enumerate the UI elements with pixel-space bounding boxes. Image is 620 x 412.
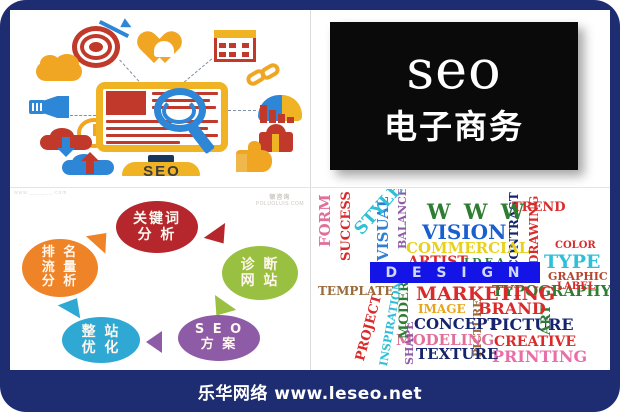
word-cloud-item: FORM [318, 194, 333, 247]
diagram-top-watermark: www.______.com [14, 190, 67, 196]
word-cloud: PRINTINGCREATIVEPICTUREPICTURETEXTUREMOD… [312, 189, 610, 370]
connector-line [70, 115, 96, 116]
cycle-node-keyword[interactable]: 关键词 分 析 [116, 201, 198, 253]
footer-bar: 乐华网络 www.leseo.net [0, 370, 620, 412]
megaphone-bar [40, 103, 42, 111]
connector-line [184, 59, 212, 83]
word-cloud-item: CONCEPT [414, 317, 499, 332]
arrow-down-head [57, 148, 75, 157]
megaphone-icon [43, 96, 69, 118]
arrow-up-icon [86, 160, 94, 174]
diagram-watermark: 顿咨询 POLUOLUIS.COM [256, 192, 304, 207]
word-cloud-item: W W W [427, 201, 527, 222]
calculator-key [219, 43, 226, 48]
cloud-icon-puff [55, 54, 79, 73]
word-cloud-item: TYPE [544, 253, 600, 272]
thumbs-up-wrist [236, 154, 247, 172]
cycle-node-ranking[interactable]: 排 名 流 量 分 析 [22, 239, 98, 297]
monitor-text-line [106, 141, 180, 144]
connector-line [228, 110, 256, 111]
arrow-up-head [81, 152, 99, 161]
image-collage: SEO seo 电子商务 www.______.com 顿咨询 POLUOLUI… [10, 10, 610, 370]
calculator-key [242, 52, 249, 57]
word-cloud-item: CREATIVE [494, 335, 576, 349]
word-cloud-item: COLOR [555, 241, 596, 251]
word-cloud-item: TEMPLATE [318, 285, 394, 297]
panel-divider-horizontal [10, 187, 610, 188]
magnifier-lens-highlight [162, 98, 196, 124]
word-cloud-item: LABEL [557, 282, 595, 292]
seo-caption: SEO [116, 163, 208, 180]
gift-box-bow [266, 124, 286, 134]
panel-design-word-cloud[interactable]: PRINTINGCREATIVEPICTUREPICTURETEXTUREMOD… [312, 189, 610, 370]
panel-seo-infographic[interactable]: SEO [10, 10, 310, 187]
black-banner: seo 电子商务 [330, 22, 578, 170]
chain-link-icon [246, 65, 286, 89]
cycle-node-optimize[interactable]: 整 站 优 化 [62, 317, 140, 363]
calculator-key [229, 43, 236, 48]
page-frame: SEO seo 电子商务 www.______.com 顿咨询 POLUOLUI… [0, 0, 620, 412]
flow-arrow [146, 331, 162, 353]
banner-title: seo [406, 44, 501, 95]
calculator-key [219, 52, 226, 57]
megaphone-bar [32, 103, 34, 111]
word-cloud-item: TEXTURE [416, 347, 498, 362]
word-cloud-item: SUCCESS [340, 191, 353, 261]
calculator-icon-screen [214, 30, 256, 38]
target-icon-center [89, 42, 103, 52]
word-cloud-item: MARKETING [416, 285, 555, 304]
panel-seo-cycle-diagram[interactable]: www.______.com 顿咨询 POLUOLUIS.COM 关键词 分 析… [10, 189, 310, 370]
cycle-node-plan[interactable]: S E O 方 案 [178, 315, 260, 361]
word-cloud-item: PRINTING [492, 349, 587, 365]
flow-arrow [204, 223, 234, 251]
word-cloud-item: VISION [422, 222, 506, 242]
arrow-head-icon [120, 18, 133, 31]
cycle-node-diagnose[interactable]: 诊 断 网 站 [222, 246, 298, 300]
gift-box-ribbon [272, 132, 279, 152]
bar-chart-icon [260, 105, 300, 123]
heart-icon-inner [154, 41, 174, 57]
calculator-key [242, 43, 249, 48]
word-cloud-item: PICTURE [490, 317, 574, 333]
megaphone-bar [36, 103, 38, 111]
calculator-key [229, 52, 236, 57]
footer-brand: 乐华网络 www.leseo.net [198, 379, 422, 404]
monitor-content-block [106, 91, 146, 115]
design-highlight-text: D E S I G N [370, 265, 540, 281]
panel-divider-vertical [310, 10, 311, 370]
panel-seo-black-banner[interactable]: seo 电子商务 [312, 10, 610, 187]
thumbs-up-thumb [248, 141, 261, 155]
flow-arrow [86, 224, 116, 253]
banner-subtitle: 电子商务 [384, 100, 524, 148]
